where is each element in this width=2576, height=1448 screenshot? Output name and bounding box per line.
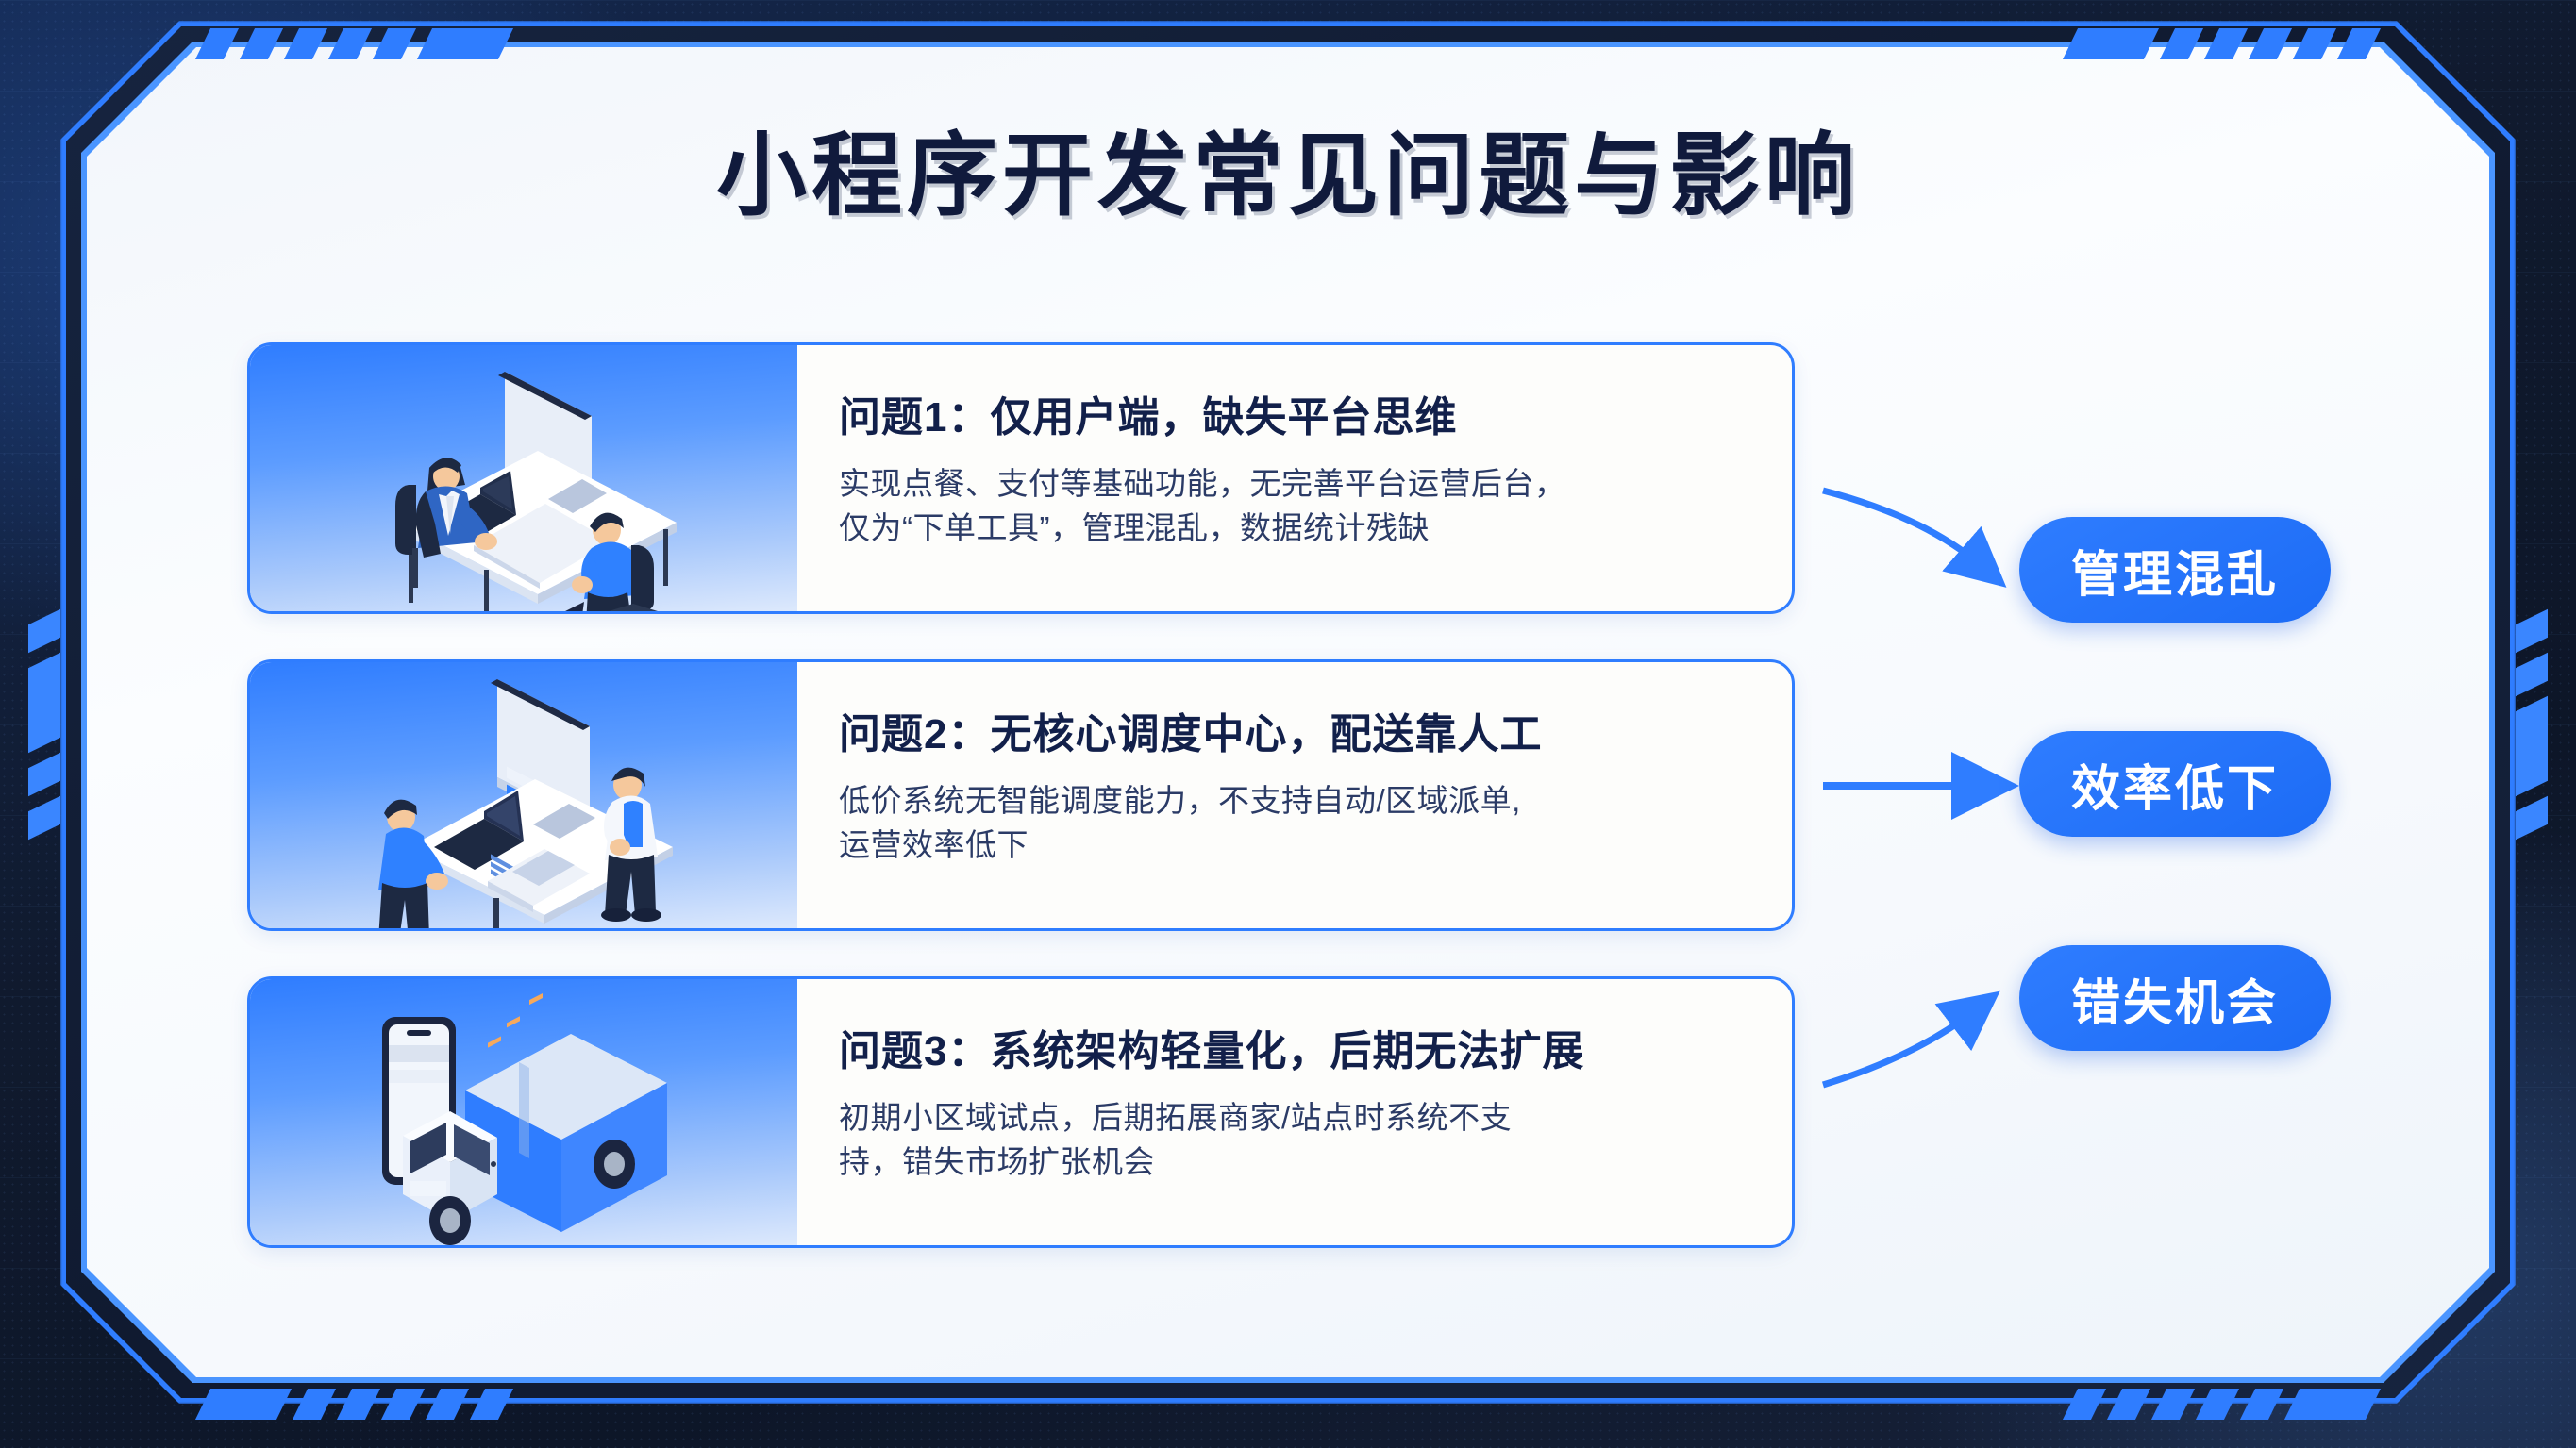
stripe-bar-wide <box>2284 1389 2381 1420</box>
problem-card[interactable]: 问题2：无核心调度中心，配送靠人工 低价系统无智能调度能力，不支持自动/区域派单… <box>247 659 1795 931</box>
stripe-bar <box>28 752 60 796</box>
stripe-bar <box>381 1389 425 1420</box>
card-description-line: 运营效率低下 <box>839 824 1750 868</box>
stripe-bar-wide <box>195 1389 292 1420</box>
stripe-bar <box>2249 28 2292 59</box>
stripe-bar-tall <box>2516 695 2548 796</box>
card-description-line: 仅为“下单工具”，管理混乱，数据统计残缺 <box>839 507 1750 551</box>
stripe-bar <box>284 28 327 59</box>
stripe-bar-wide <box>417 28 513 59</box>
stripe-bar <box>2240 1389 2283 1420</box>
stripe-bar <box>2151 1389 2195 1420</box>
problem-card[interactable]: 问题1：仅用户端，缺失平台思维 实现点餐、支付等基础功能，无完善平台运营后台， … <box>247 342 1795 614</box>
card-illustration-phone-truck <box>250 979 797 1245</box>
card-text-area: 问题1：仅用户端，缺失平台思维 实现点餐、支付等基础功能，无完善平台运营后台， … <box>797 345 1792 611</box>
card-text-area: 问题3：系统架构轻量化，后期无法扩展 初期小区域试点，后期拓展商家/站点时系统不… <box>797 979 1792 1245</box>
desk-scene-icon <box>250 345 797 614</box>
card-description-line: 低价系统无智能调度能力，不支持自动/区域派单, <box>839 779 1750 824</box>
corner-stripes-bottom-right <box>2070 1389 2373 1420</box>
page-title: 小程序开发常见问题与影响 <box>0 102 2576 233</box>
problem-card[interactable]: 问题3：系统架构轻量化，后期无法扩展 初期小区域试点，后期拓展商家/站点时系统不… <box>247 976 1795 1248</box>
card-description-line: 持，错失市场扩张机会 <box>839 1140 1750 1185</box>
impact-badge-missed-opportunity[interactable]: 错失机会 <box>2019 945 2331 1051</box>
card-title: 问题1：仅用户端，缺失平台思维 <box>839 383 1750 443</box>
stripe-bar <box>2160 28 2203 59</box>
stripe-bar <box>293 1389 336 1420</box>
card-description-line: 实现点餐、支付等基础功能，无完善平台运营后台， <box>839 462 1750 507</box>
impact-badge-low-efficiency[interactable]: 效率低下 <box>2019 731 2331 837</box>
corner-stripes-top-right <box>2070 28 2373 59</box>
stripe-bar <box>328 28 372 59</box>
edge-stripes-left <box>28 617 60 832</box>
card-text-area: 问题2：无核心调度中心，配送靠人工 低价系统无智能调度能力，不支持自动/区域派单… <box>797 662 1792 928</box>
card-title: 问题3：系统架构轻量化，后期无法扩展 <box>839 1017 1750 1077</box>
problem-card-list: 问题1：仅用户端，缺失平台思维 实现点餐、支付等基础功能，无完善平台运营后台， … <box>247 342 1795 1293</box>
card-description-line: 初期小区域试点，后期拓展商家/站点时系统不支 <box>839 1096 1750 1140</box>
card-description: 初期小区域试点，后期拓展商家/站点时系统不支 持，错失市场扩张机会 <box>839 1096 1750 1185</box>
stripe-bar-wide <box>2063 28 2159 59</box>
stripe-bar <box>2196 1389 2239 1420</box>
card-description: 实现点餐、支付等基础功能，无完善平台运营后台， 仅为“下单工具”，管理混乱，数据… <box>839 462 1750 551</box>
delivery-truck-phone-icon <box>250 979 797 1248</box>
card-description: 低价系统无智能调度能力，不支持自动/区域派单, 运营效率低下 <box>839 779 1750 868</box>
card-illustration-desk-two-people <box>250 345 797 611</box>
card-title: 问题2：无核心调度中心，配送靠人工 <box>839 700 1750 760</box>
edge-stripes-right <box>2516 617 2548 832</box>
stripe-bar <box>337 1389 380 1420</box>
stripe-bar <box>373 28 416 59</box>
stripe-bar-tall <box>28 652 60 753</box>
stripe-bar <box>2293 28 2336 59</box>
stripe-bar <box>2204 28 2248 59</box>
standing-desk-scene-icon <box>250 662 797 931</box>
card-illustration-standing-two-people <box>250 662 797 928</box>
stripe-bar <box>2107 1389 2150 1420</box>
corner-stripes-bottom-left <box>203 1389 506 1420</box>
stripe-bar <box>2516 652 2548 696</box>
corner-stripes-top-left <box>203 28 506 59</box>
stripe-bar <box>240 28 283 59</box>
impact-badge-management-chaos[interactable]: 管理混乱 <box>2019 517 2331 623</box>
stripe-bar <box>426 1389 469 1420</box>
